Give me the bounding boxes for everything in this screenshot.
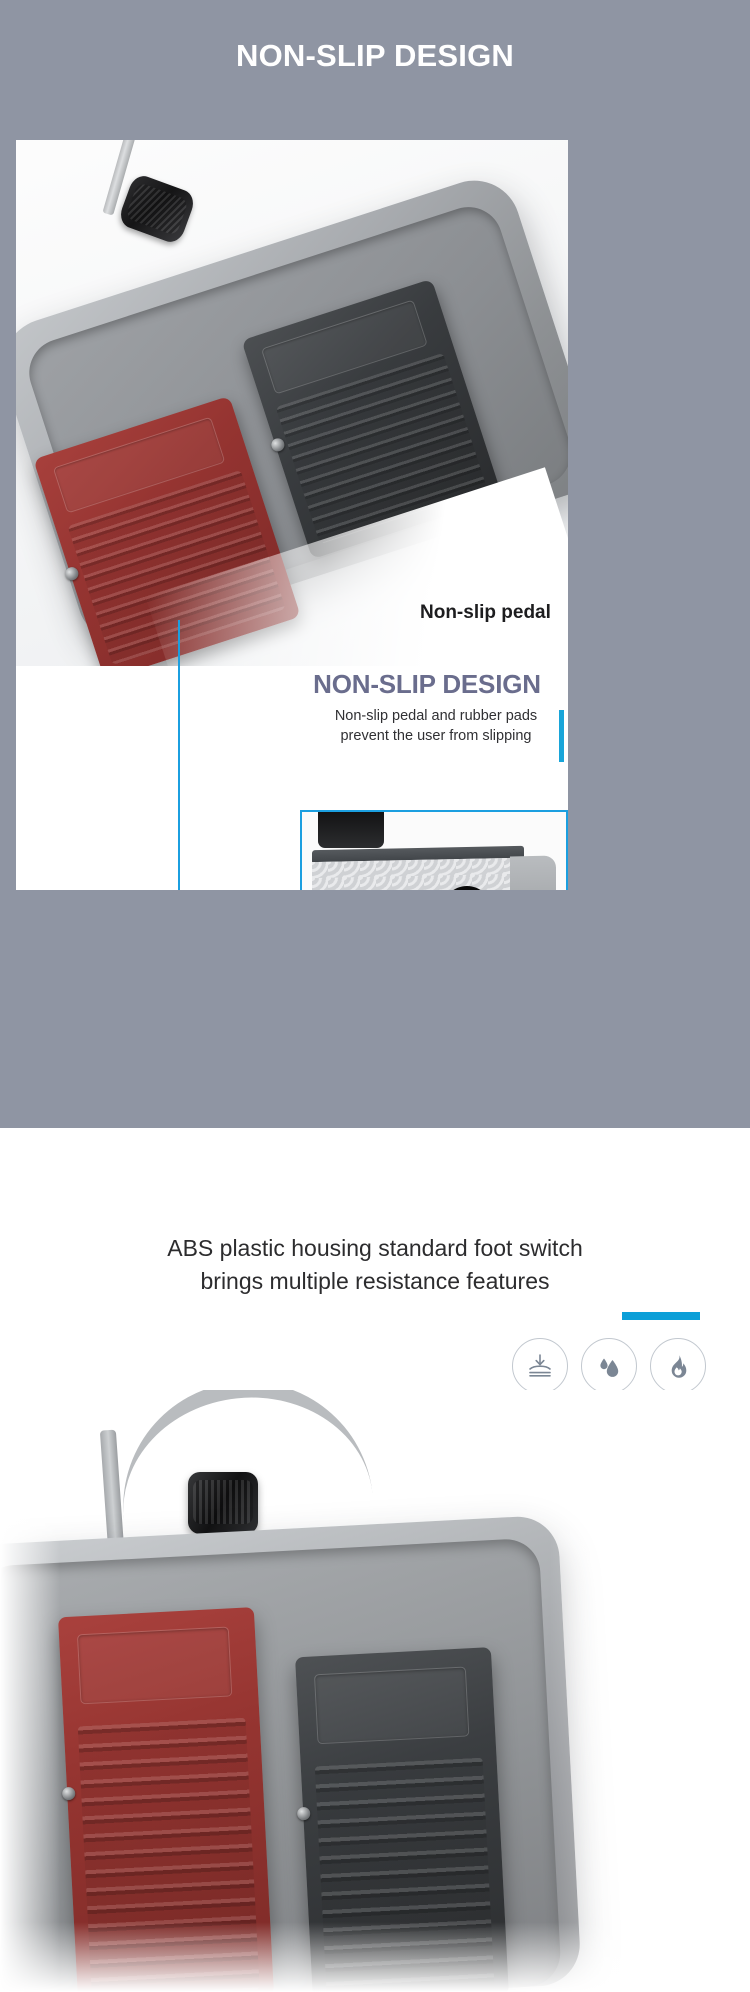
abs-heading-line1: ABS plastic housing standard foot switch bbox=[0, 1232, 750, 1265]
red-pedal-plate-front bbox=[77, 1626, 232, 1704]
photo-fade-bottom bbox=[0, 1922, 750, 1992]
inset-housing-side bbox=[510, 856, 556, 890]
hero-product-photo bbox=[16, 140, 568, 666]
dark-pedal-screw-front bbox=[297, 1807, 311, 1821]
inset-cable-gland bbox=[318, 810, 384, 848]
photo-fade-left bbox=[0, 1390, 60, 1992]
pressure-resistance-icon bbox=[512, 1338, 568, 1394]
product-detail-page: NON-SLIP DESIGN bbox=[0, 0, 750, 1992]
inset-housing-underside bbox=[312, 858, 512, 890]
callout-title: NON-SLIP DESIGN bbox=[298, 670, 556, 699]
rubber-pads-inset-photo bbox=[300, 810, 568, 890]
callout-subtitle-line2: prevent the user from slipping bbox=[316, 726, 556, 747]
nonslip-photo-card: Non-slip pedal NON-SLIP DESIGN Non-slip … bbox=[16, 140, 568, 890]
callout-subtitle: Non-slip pedal and rubber pads prevent t… bbox=[316, 706, 556, 747]
abs-section-heading: ABS plastic housing standard foot switch… bbox=[0, 1232, 750, 1297]
fire-resistance-icon bbox=[650, 1338, 706, 1394]
page-title: NON-SLIP DESIGN bbox=[0, 38, 750, 74]
red-pedal-screw-front bbox=[62, 1787, 76, 1801]
nonslip-pedal-label: Non-slip pedal bbox=[420, 602, 551, 624]
cable-gland-front bbox=[188, 1472, 258, 1534]
feature-icon-row bbox=[512, 1338, 706, 1394]
abs-product-photo bbox=[0, 1390, 750, 1992]
power-cable-tail bbox=[100, 1430, 124, 1551]
nonslip-callout: NON-SLIP DESIGN Non-slip pedal and rubbe… bbox=[316, 670, 556, 747]
photo-fade-right bbox=[550, 1390, 750, 1992]
water-resistance-icon bbox=[581, 1338, 637, 1394]
callout-subtitle-line1: Non-slip pedal and rubber pads bbox=[316, 706, 556, 727]
leader-line-vertical bbox=[178, 620, 180, 890]
nonslip-section-band: NON-SLIP DESIGN bbox=[0, 0, 750, 1128]
callout-accent-bar bbox=[559, 710, 564, 762]
section-accent-bar bbox=[622, 1312, 700, 1320]
dark-pedal-plate-front bbox=[314, 1666, 469, 1744]
abs-heading-line2: brings multiple resistance features bbox=[0, 1265, 750, 1298]
